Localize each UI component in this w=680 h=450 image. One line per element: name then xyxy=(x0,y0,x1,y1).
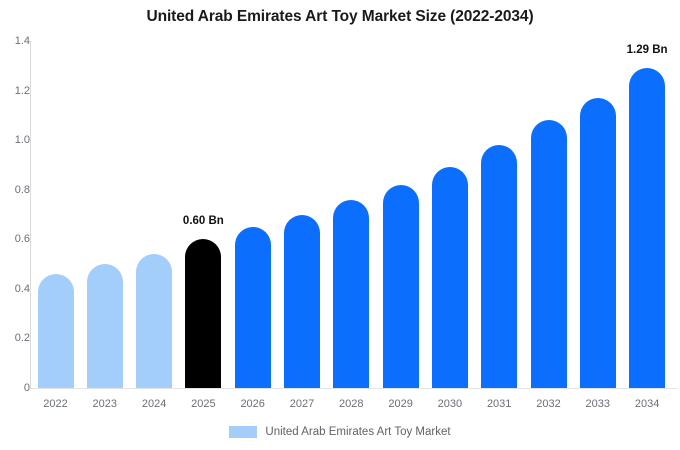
bar-2029[interactable] xyxy=(383,185,419,388)
bar-2023[interactable] xyxy=(87,264,123,388)
x-axis-tick-label: 2031 xyxy=(474,398,524,410)
bar-2028[interactable] xyxy=(333,200,369,388)
x-axis-tick-label: 2023 xyxy=(80,398,130,410)
x-axis-tick-label: 2022 xyxy=(31,398,81,410)
bars-layer: 20222023202420250.60 Bn20262027202820292… xyxy=(0,0,680,450)
bar-2024[interactable] xyxy=(136,254,172,388)
bar-2030[interactable] xyxy=(432,167,468,388)
x-axis-tick-label: 2027 xyxy=(277,398,327,410)
bar-2025[interactable] xyxy=(185,239,221,388)
bar-chart: United Arab Emirates Art Toy Market Size… xyxy=(0,0,680,450)
x-axis-tick-label: 2032 xyxy=(524,398,574,410)
bar-value-label-2034: 1.29 Bn xyxy=(607,44,680,56)
x-axis-tick-label: 2025 xyxy=(178,398,228,410)
x-axis-tick-label: 2030 xyxy=(425,398,475,410)
x-axis-tick-label: 2029 xyxy=(376,398,426,410)
bar-2033[interactable] xyxy=(580,98,616,388)
bar-2032[interactable] xyxy=(531,120,567,388)
x-axis-tick-label: 2034 xyxy=(622,398,672,410)
x-axis-tick-label: 2028 xyxy=(326,398,376,410)
chart-legend: United Arab Emirates Art Toy Market xyxy=(0,426,680,438)
legend-item-label: United Arab Emirates Art Toy Market xyxy=(265,426,450,438)
bar-2034[interactable] xyxy=(629,68,665,388)
bar-value-label-2025: 0.60 Bn xyxy=(163,215,243,227)
bar-2022[interactable] xyxy=(38,274,74,388)
bar-2031[interactable] xyxy=(481,145,517,388)
bar-2026[interactable] xyxy=(235,227,271,388)
bar-2027[interactable] xyxy=(284,215,320,389)
x-axis-tick-label: 2026 xyxy=(228,398,278,410)
x-axis-tick-label: 2033 xyxy=(573,398,623,410)
x-axis-tick-label: 2024 xyxy=(129,398,179,410)
legend-swatch-icon xyxy=(229,426,257,438)
